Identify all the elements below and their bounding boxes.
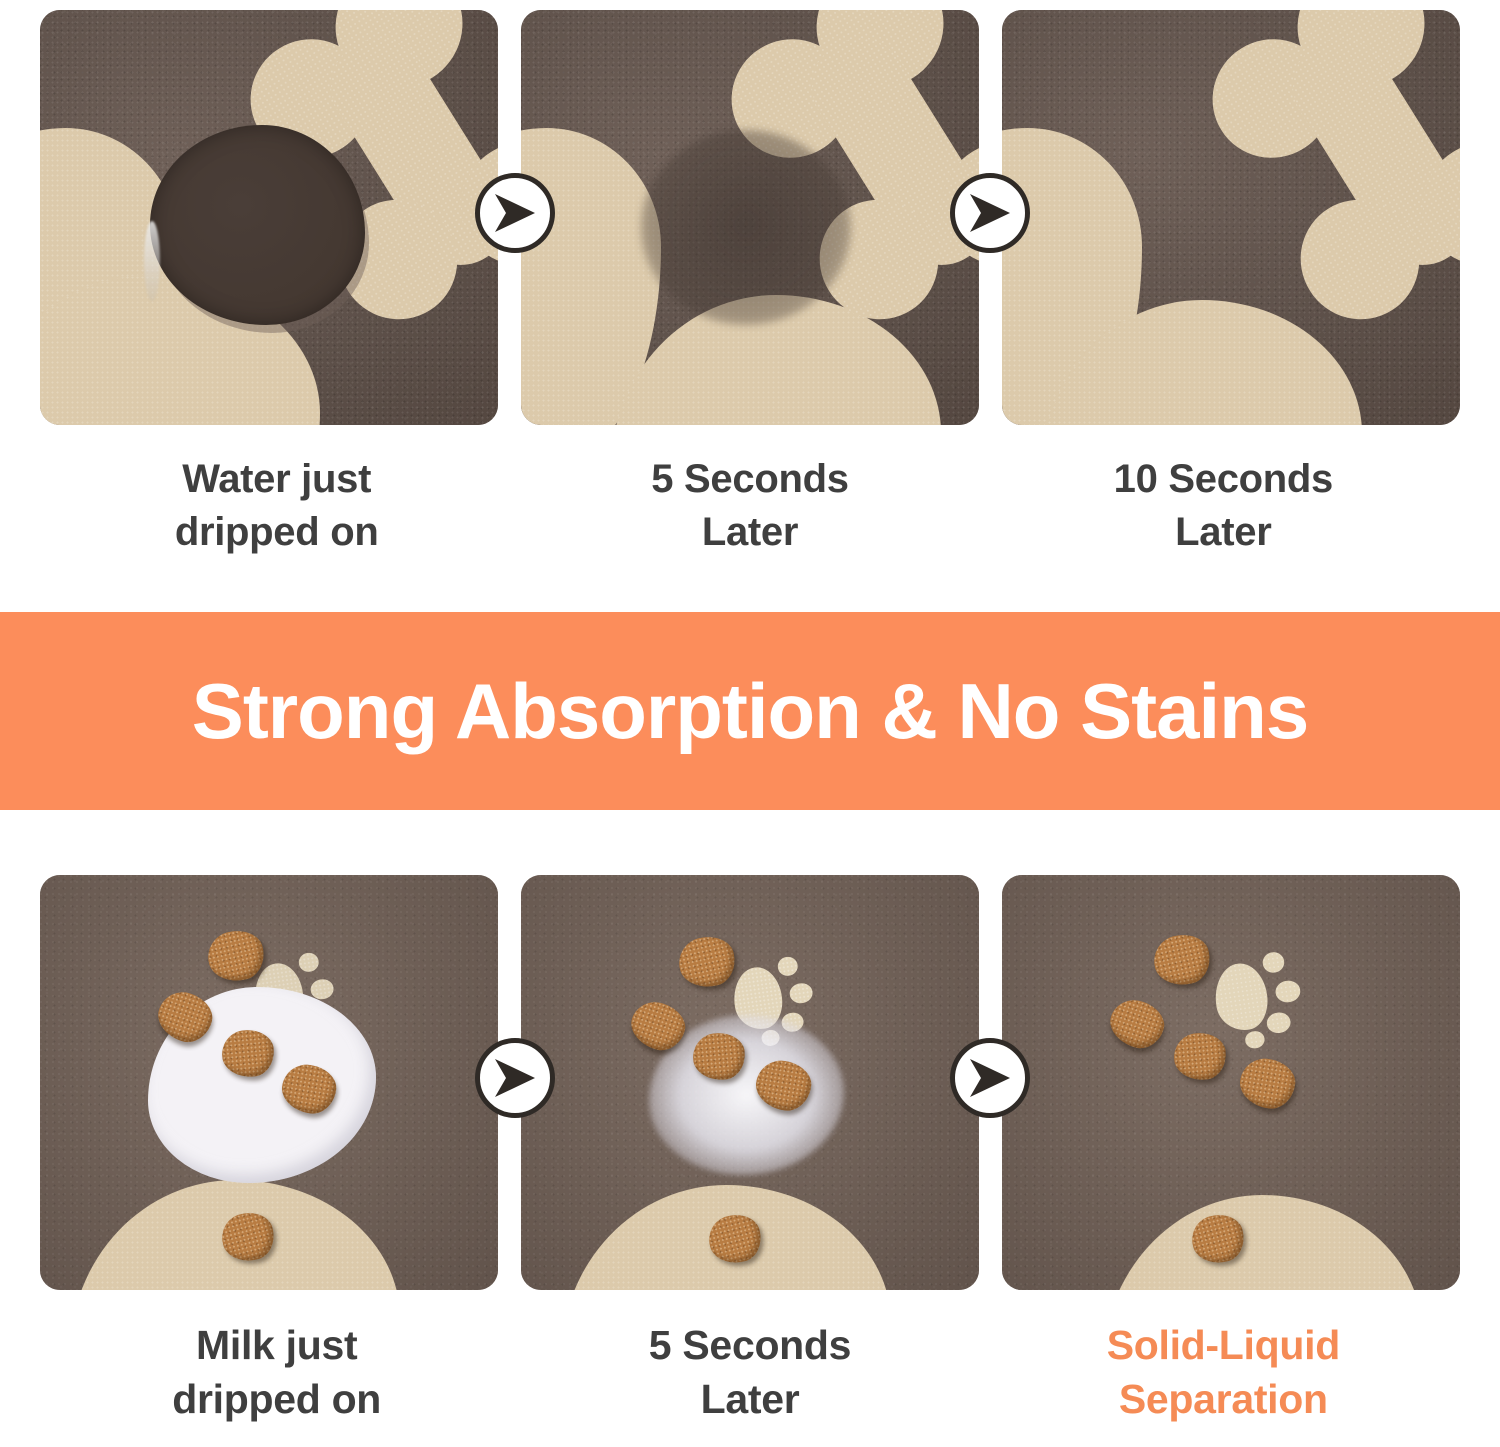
arrow-right-icon — [950, 1038, 1030, 1118]
milk-captions: Milk just dripped on 5 Seconds Later Sol… — [0, 1318, 1500, 1426]
water-step-3-caption: 10 Seconds Later — [987, 453, 1460, 559]
headline-text: Strong Absorption & No Stains — [192, 666, 1308, 757]
water-spot-fading — [641, 130, 851, 325]
headline-banner: Strong Absorption & No Stains — [0, 612, 1500, 810]
milk-absorption-row: Milk just dripped on 5 Seconds Later Sol… — [0, 865, 1500, 1447]
arrow-right-icon — [475, 1038, 555, 1118]
arrow-right-icon — [950, 173, 1030, 253]
milk-step-3-caption: Solid-Liquid Separation — [987, 1318, 1460, 1426]
water-captions: Water just dripped on 5 Seconds Later 10… — [0, 453, 1500, 559]
water-step-3-image — [1002, 10, 1460, 425]
water-step-1-caption: Water just dripped on — [40, 453, 513, 559]
water-absorption-row: Water just dripped on 5 Seconds Later 10… — [0, 0, 1500, 612]
arrow-right-icon — [475, 173, 555, 253]
water-step-2-image — [521, 10, 979, 425]
water-step-2-caption: 5 Seconds Later — [513, 453, 986, 559]
milk-tile-strip — [0, 865, 1500, 1290]
water-step-1-image — [40, 10, 498, 425]
water-tile-strip — [0, 0, 1500, 425]
milk-step-2-caption: 5 Seconds Later — [513, 1318, 986, 1426]
water-spot-wet — [150, 125, 365, 325]
milk-step-2-image — [521, 875, 979, 1290]
milk-step-3-image — [1002, 875, 1460, 1290]
milk-step-1-image — [40, 875, 498, 1290]
milk-step-1-caption: Milk just dripped on — [40, 1318, 513, 1426]
